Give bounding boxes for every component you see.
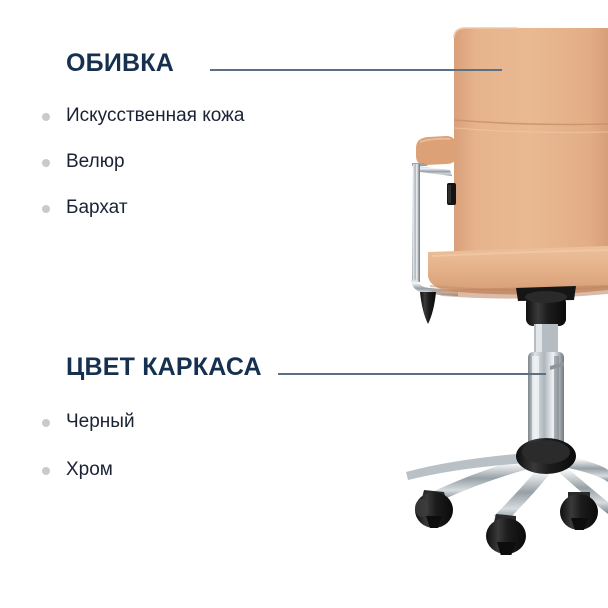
chair-base-tip-left: [420, 292, 436, 324]
bullet-dot-icon: [42, 113, 50, 121]
product-infographic: ОБИВКА Искусственная кожа Велюр Бархат Ц…: [0, 0, 608, 608]
caster-front: [486, 514, 526, 555]
chair-illustration: [398, 0, 608, 555]
list-item-label: Велюр: [66, 151, 125, 172]
list-item[interactable]: Черный: [0, 410, 400, 434]
list-item[interactable]: Хром: [0, 458, 400, 482]
upholstery-option-list: Искусственная кожа Велюр Бархат: [0, 104, 400, 220]
list-item[interactable]: Велюр: [0, 150, 400, 174]
chair-mechanism: [516, 286, 576, 326]
heading-frame-color: ЦВЕТ КАРКАСА: [0, 352, 400, 382]
section-frame-color: ЦВЕТ КАРКАСА Черный Хром: [0, 352, 400, 506]
list-item-label: Черный: [66, 411, 135, 432]
frame-color-option-list: Черный Хром: [0, 410, 400, 482]
list-item[interactable]: Искусственная кожа: [0, 104, 400, 128]
chair-backrest: [454, 28, 608, 268]
list-item-label: Хром: [66, 459, 113, 480]
chair-gas-lift-cylinder: [528, 324, 564, 456]
chair-casters: [415, 490, 598, 555]
section-upholstery: ОБИВКА Искусственная кожа Велюр Бархат: [0, 48, 400, 242]
bullet-dot-icon: [42, 205, 50, 213]
bullet-dot-icon: [42, 467, 50, 475]
heading-upholstery: ОБИВКА: [0, 48, 400, 78]
office-chair-photo: [398, 0, 608, 555]
bullet-dot-icon: [42, 159, 50, 167]
list-item-label: Искусственная кожа: [66, 105, 244, 126]
bullet-dot-icon: [42, 419, 50, 427]
list-item-label: Бархат: [66, 197, 128, 218]
list-item[interactable]: Бархат: [0, 196, 400, 220]
